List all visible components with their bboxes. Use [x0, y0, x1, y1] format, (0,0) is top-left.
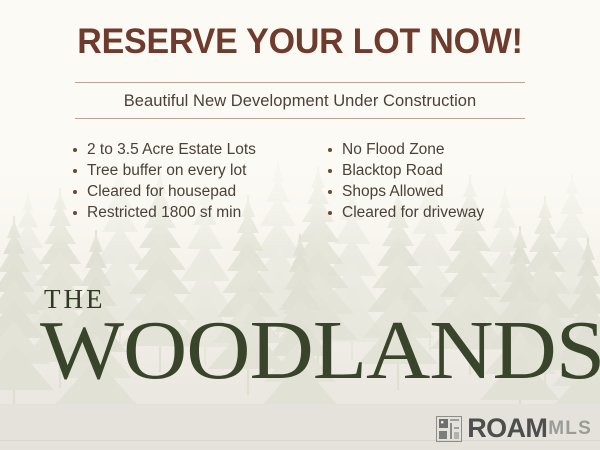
subtitle-block: Beautiful New Development Under Construc…	[75, 82, 525, 119]
roam-mls-logo: ROAM MLS	[436, 415, 592, 442]
feature-item: Cleared for driveway	[325, 202, 540, 223]
features-columns: 2 to 3.5 Acre Estate Lots Tree buffer on…	[70, 139, 540, 223]
subtitle: Beautiful New Development Under Construc…	[75, 83, 525, 118]
logo-brand-text: ROAM	[467, 415, 547, 442]
real-estate-flyer: RESERVE YOUR LOT NOW! Beautiful New Deve…	[0, 0, 600, 450]
roam-house-mark-icon	[436, 416, 462, 442]
feature-item: Cleared for housepad	[70, 181, 325, 202]
features-column-right: No Flood Zone Blacktop Road Shops Allowe…	[325, 139, 540, 223]
feature-item: 2 to 3.5 Acre Estate Lots	[70, 139, 325, 160]
feature-item: No Flood Zone	[325, 139, 540, 160]
feature-item: Shops Allowed	[325, 181, 540, 202]
divider-bottom	[75, 118, 525, 119]
headline: RESERVE YOUR LOT NOW!	[9, 22, 591, 62]
feature-item: Tree buffer on every lot	[70, 160, 325, 181]
logo-suffix-text: MLS	[548, 419, 592, 438]
development-wordmark: THE WOODLANDS	[40, 286, 570, 393]
feature-item: Blacktop Road	[325, 160, 540, 181]
wordmark-name: WOODLANDS	[40, 309, 600, 393]
feature-item: Restricted 1800 sf min	[70, 202, 325, 223]
features-column-left: 2 to 3.5 Acre Estate Lots Tree buffer on…	[70, 139, 325, 223]
